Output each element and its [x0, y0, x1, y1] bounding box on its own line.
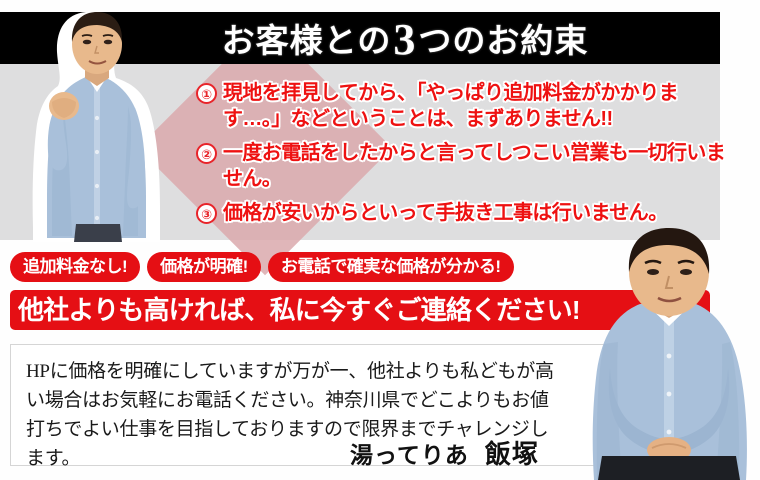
fist-raised-man-photo: [28, 6, 168, 242]
list-item: ① 現地を拝見してから、「やっぱり追加料金がかかります…。」などということは、ま…: [196, 80, 726, 133]
list-item-number: ②: [196, 143, 217, 164]
page-title-number: 3: [391, 20, 418, 60]
signature-company: 湯ってりあ: [350, 443, 469, 468]
list-item: ③ 価格が安いからといって手抜き工事は行いません。: [196, 200, 726, 226]
status-badge: 価格が明確!: [147, 252, 261, 282]
list-item-number: ①: [196, 83, 217, 104]
page-title-suffix: つのお約束: [418, 14, 588, 62]
promise-list: ① 現地を拝見してから、「やっぱり追加料金がかかります…。」などということは、ま…: [196, 80, 726, 233]
page-title-prefix: お客様との: [222, 14, 392, 62]
status-badge: 追加料金なし!: [10, 252, 140, 282]
feature-badge-row: 追加料金なし! 価格が明確! お電話で確実な価格が分かる!: [10, 252, 514, 282]
list-item-label: 一度お電話をしたからと言ってしつこい営業も一切行いません。: [223, 140, 726, 193]
headline-label: 他社よりも高ければ、私に今すぐご連絡ください!: [18, 290, 580, 330]
list-item: ② 一度お電話をしたからと言ってしつこい営業も一切行いません。: [196, 140, 726, 193]
list-item-label: 現地を拝見してから、「やっぱり追加料金がかかります…。」などということは、まずあ…: [223, 80, 726, 133]
list-item-label: 価格が安いからといって手抜き工事は行いません。: [223, 200, 726, 226]
status-badge: お電話で確実な価格が分かる!: [268, 252, 514, 282]
signature-name: 飯塚: [485, 440, 539, 469]
signature: 湯ってりあ飯塚: [350, 434, 539, 471]
list-item-number: ③: [196, 203, 217, 224]
promise-banner: お客様との3つのお約束 ① 現地を拝見してから、「やっぱり追加料金がかかります……: [0, 0, 760, 480]
bowing-man-photo: [580, 228, 758, 480]
